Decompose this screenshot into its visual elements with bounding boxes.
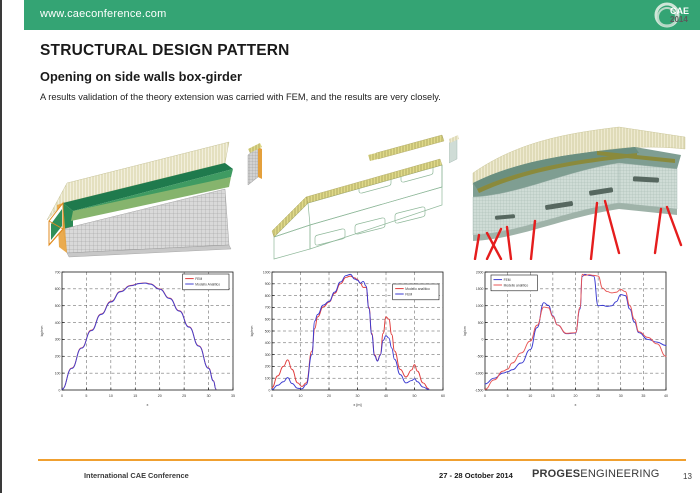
- svg-text:x: x: [147, 403, 149, 407]
- svg-text:500: 500: [55, 304, 61, 308]
- page-title: STRUCTURAL DESIGN PATTERN: [40, 42, 290, 60]
- svg-text:kg/mm: kg/mm: [250, 326, 254, 337]
- svg-text:0: 0: [482, 338, 484, 342]
- svg-text:FEM: FEM: [195, 277, 202, 281]
- svg-text:100: 100: [265, 377, 271, 381]
- svg-text:x [m]: x [m]: [353, 403, 361, 407]
- svg-text:30: 30: [356, 394, 360, 398]
- footer-date: 27 - 28 October 2014: [439, 471, 513, 480]
- svg-text:Modello analitico: Modello analitico: [504, 283, 529, 287]
- svg-text:500: 500: [265, 329, 271, 333]
- body-paragraph: A results validation of the theory exten…: [40, 92, 441, 102]
- chart-2-shear-flow: 0102030405060010020030040050060070080090…: [246, 264, 451, 416]
- slide-root: www.caeconference.com CAE 2014 STRUCTURA…: [0, 0, 700, 493]
- svg-text:FEM: FEM: [504, 278, 511, 282]
- footer-brand: PROGESENGINEERING: [532, 468, 660, 480]
- svg-text:1500: 1500: [476, 287, 484, 291]
- svg-text:5: 5: [85, 394, 87, 398]
- svg-text:20: 20: [574, 394, 578, 398]
- svg-text:30: 30: [619, 394, 623, 398]
- svg-text:35: 35: [641, 394, 645, 398]
- svg-text:300: 300: [265, 353, 271, 357]
- svg-text:-1500: -1500: [475, 388, 484, 392]
- svg-text:2014: 2014: [670, 15, 688, 24]
- svg-text:40: 40: [664, 394, 668, 398]
- svg-text:Modello Analitico: Modello Analitico: [195, 282, 220, 286]
- figures-row: [24, 125, 700, 260]
- svg-text:20: 20: [158, 394, 162, 398]
- svg-text:600: 600: [55, 287, 61, 291]
- svg-text:10: 10: [528, 394, 532, 398]
- svg-text:10: 10: [299, 394, 303, 398]
- footer-conference-name: International CAE Conference: [84, 471, 189, 480]
- svg-text:60: 60: [441, 394, 445, 398]
- svg-text:300: 300: [55, 338, 61, 342]
- figure-deformed-bridge-deck-supports: [449, 125, 699, 260]
- charts-row: 051015202530350100200300400500600700xkg/…: [24, 264, 700, 416]
- svg-text:-1000: -1000: [475, 371, 484, 375]
- svg-text:40: 40: [384, 394, 388, 398]
- svg-text:x: x: [575, 403, 577, 407]
- svg-text:1000: 1000: [476, 304, 484, 308]
- svg-text:25: 25: [596, 394, 600, 398]
- svg-text:0: 0: [271, 394, 273, 398]
- chart-3-stress: 0510152025303540-1500-1000-5000500100015…: [459, 264, 674, 416]
- svg-text:15: 15: [133, 394, 137, 398]
- svg-text:400: 400: [55, 321, 61, 325]
- svg-text:20: 20: [327, 394, 331, 398]
- svg-text:kg/cm: kg/cm: [463, 326, 467, 336]
- svg-text:700: 700: [265, 306, 271, 310]
- svg-text:500: 500: [478, 321, 484, 325]
- svg-text:1000: 1000: [263, 270, 271, 274]
- svg-text:2000: 2000: [476, 270, 484, 274]
- svg-text:100: 100: [55, 371, 61, 375]
- figure-box-girder-wireframe-openings: [246, 125, 451, 260]
- svg-text:200: 200: [265, 365, 271, 369]
- footer-page-number: 13: [683, 472, 692, 481]
- chart-1-bending-moment: 051015202530350100200300400500600700xkg/…: [36, 264, 241, 416]
- svg-text:5: 5: [507, 394, 509, 398]
- svg-text:30: 30: [207, 394, 211, 398]
- svg-text:0: 0: [61, 394, 63, 398]
- footer-divider: [38, 459, 686, 461]
- footer-brand-bold: PROGES: [532, 468, 580, 480]
- svg-text:900: 900: [265, 282, 271, 286]
- svg-text:25: 25: [182, 394, 186, 398]
- svg-text:Modello analitico: Modello analitico: [405, 287, 430, 291]
- svg-text:600: 600: [265, 318, 271, 322]
- footer-brand-light: ENGINEERING: [580, 468, 659, 480]
- svg-text:10: 10: [109, 394, 113, 398]
- svg-text:0: 0: [59, 388, 61, 392]
- figure-box-girder-fem-mesh: [29, 125, 247, 260]
- svg-text:400: 400: [265, 341, 271, 345]
- page-subtitle: Opening on side walls box-girder: [40, 69, 242, 84]
- svg-text:0: 0: [269, 388, 271, 392]
- svg-text:200: 200: [55, 355, 61, 359]
- svg-text:35: 35: [231, 394, 235, 398]
- svg-text:800: 800: [265, 294, 271, 298]
- svg-text:0: 0: [484, 394, 486, 398]
- header-url[interactable]: www.caeconference.com: [40, 8, 166, 20]
- cae-conference-logo-icon: CAE 2014: [652, 2, 692, 28]
- svg-text:-500: -500: [477, 355, 484, 359]
- svg-text:FEM: FEM: [405, 292, 412, 296]
- svg-text:kg/mm: kg/mm: [40, 326, 44, 337]
- svg-text:15: 15: [551, 394, 555, 398]
- svg-text:50: 50: [413, 394, 417, 398]
- svg-text:700: 700: [55, 270, 61, 274]
